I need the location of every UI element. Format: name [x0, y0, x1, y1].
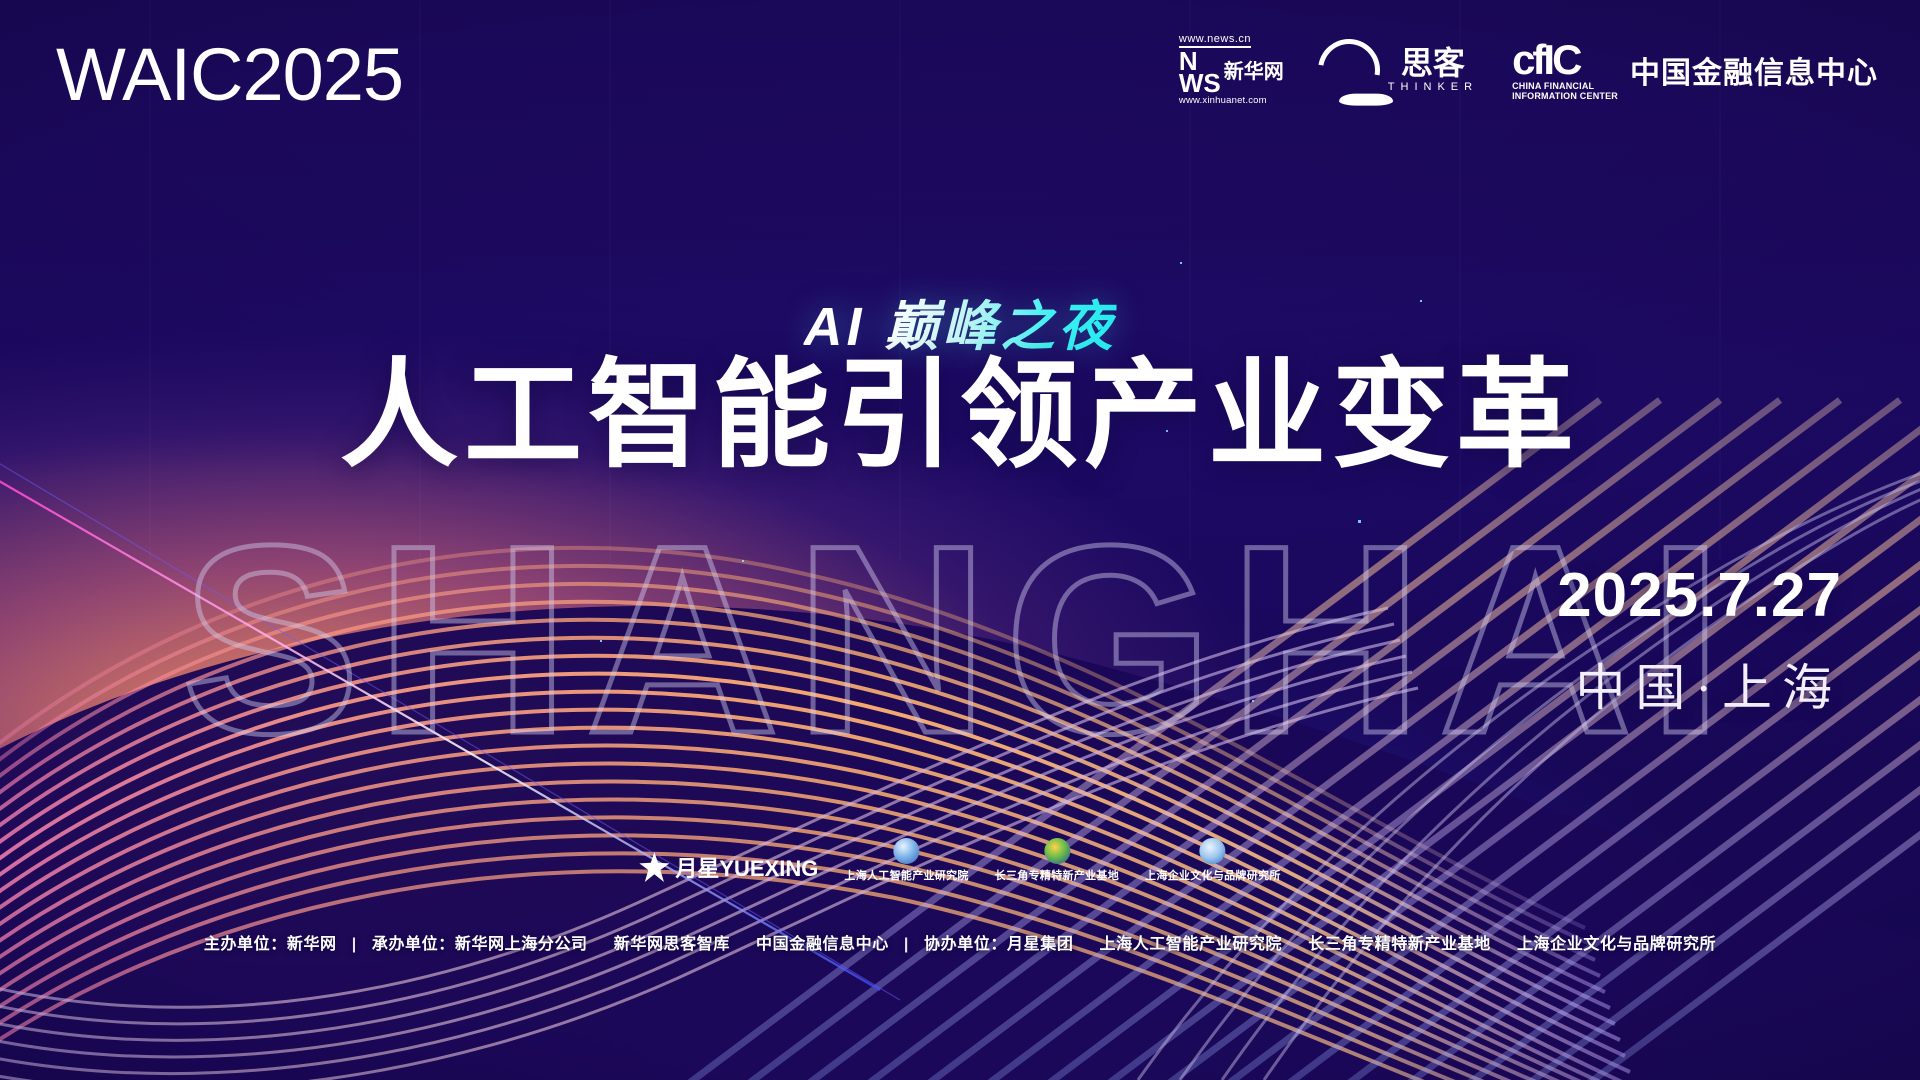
partner-label: 长三角专精特新产业基地: [995, 867, 1119, 883]
credit-coorganizer-4: 上海企业文化与品牌研究所: [1517, 936, 1716, 953]
credit-coorganizer-3: 长三角专精特新产业基地: [1308, 936, 1491, 953]
partner-enterprise-culture-institute[interactable]: 上海企业文化与品牌研究所: [1145, 838, 1281, 883]
header-logo-group: www.news.cn N WS 新华网 www.xinhuanet.com 思…: [1179, 34, 1878, 106]
partner-label: 上海人工智能产业研究院: [844, 867, 968, 883]
credit-organizer: 承办单位：新华网上海分公司: [372, 936, 588, 953]
xinhuanet-initial-ws: WS: [1179, 72, 1221, 94]
xinhuanet-logo[interactable]: www.news.cn N WS 新华网 www.xinhuanet.com: [1179, 34, 1284, 106]
partner-label: 月星YUEXING: [675, 851, 818, 883]
thinker-logo[interactable]: 思客 THINKER: [1318, 39, 1478, 101]
cfic-en-line2: INFORMATION CENTER: [1512, 91, 1618, 101]
star-icon: [639, 852, 669, 882]
partner-logo-strip: 月星YUEXING 上海人工智能产业研究院 长三角专精特新产业基地 上海企业文化…: [639, 838, 1280, 883]
poster-canvas: SHANGHAI WAIC2025 www.news.cn N WS 新华网 w…: [0, 0, 1920, 1080]
credit-coorganizer: 协办单位：月星集团: [924, 936, 1073, 953]
thinker-en-name: THINKER: [1388, 82, 1478, 93]
partner-yuexing[interactable]: 月星YUEXING: [639, 851, 818, 883]
event-city: 中国·上海: [1575, 648, 1842, 720]
event-date: 2025.7.27: [1557, 560, 1842, 631]
xinhuanet-url-bottom: www.xinhuanet.com: [1179, 96, 1267, 106]
ring-icon: [1200, 838, 1226, 864]
partner-yangtze-delta-base[interactable]: 长三角专精特新产业基地: [995, 838, 1119, 883]
credit-separator-2: |: [904, 936, 909, 953]
thinker-cn-name: 思客: [1401, 47, 1465, 79]
globe-icon: [1044, 838, 1070, 864]
waic-logo: WAIC2025: [56, 38, 403, 112]
xinhuanet-cn-name: 新华网: [1224, 62, 1284, 82]
credit-coorganizer-2: 上海人工智能产业研究院: [1100, 936, 1283, 953]
partner-shanghai-ai-institute[interactable]: 上海人工智能产业研究院: [844, 838, 968, 883]
xinhuanet-nws-mark: N WS: [1179, 50, 1221, 94]
thinker-swirl-icon: [1306, 27, 1392, 113]
cfic-en-line1: CHINA FINANCIAL: [1512, 81, 1618, 91]
cfic-cn-name: 中国金融信息中心: [1630, 48, 1878, 92]
credit-organizer-3: 中国金融信息中心: [756, 936, 889, 953]
waic-logo-text: WAIC2025: [56, 33, 403, 116]
cfic-mark-text: cfIC: [1512, 39, 1618, 81]
credit-organizer-2: 新华网思客智库: [614, 936, 730, 953]
credits-line: 主办单位：新华网 | 承办单位：新华网上海分公司 新华网思客智库 中国金融信息中…: [204, 930, 1716, 954]
shanghai-watermark: SHANGHAI: [10, 505, 1910, 773]
credit-host: 主办单位：新华网: [204, 936, 337, 953]
cfic-logo[interactable]: cfIC CHINA FINANCIAL INFORMATION CENTER …: [1512, 39, 1878, 102]
partner-label: 上海企业文化与品牌研究所: [1145, 867, 1281, 883]
credit-separator-1: |: [352, 936, 357, 953]
ai-globe-icon: [894, 838, 920, 864]
hero-headline: 人工智能引领产业变革: [340, 352, 1580, 482]
